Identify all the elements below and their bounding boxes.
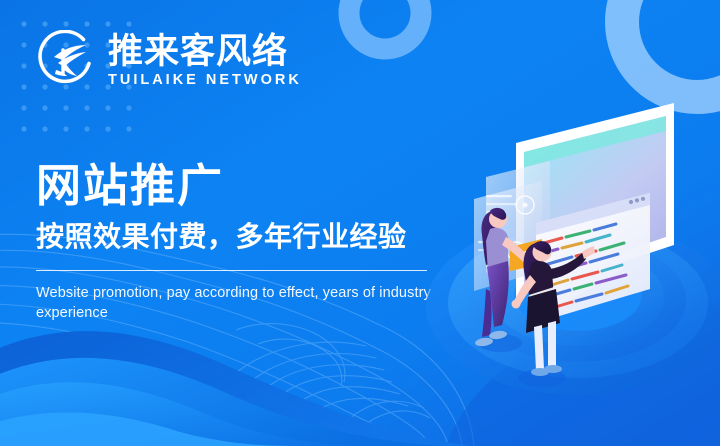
figure-left-top [486,228,508,273]
code-window-dots [629,197,645,204]
isometric-scene-svg [430,95,720,395]
promo-banner: 推来客风络 TUILAIKE NETWORK 网站推广 按照效果付费，多年行业经… [0,0,720,446]
floating-cards [474,161,550,291]
isometric-monitor [516,103,674,305]
tagline-english: Website promotion, pay according to effe… [36,283,436,323]
code-window [536,193,650,323]
figure-left-hair [481,211,499,265]
brand-logo[interactable]: 推来客风络 TUILAIKE NETWORK [36,30,302,92]
logo-chinese-name: 推来客风络 [108,33,302,71]
ring-decoration-small [349,0,421,49]
figure-right-hair [524,243,547,299]
figure-right-skirt [526,289,560,333]
code-window-body [536,193,650,323]
floating-card-icon-top [486,195,534,214]
figure-right-legs [534,325,544,371]
platform-rings [426,219,720,395]
ring-decoration-large [622,0,720,97]
figure-left-person [475,208,535,352]
code-window-titlebar [536,193,650,235]
bottom-wave-shapes [0,331,470,446]
floating-card-back [486,161,550,273]
bottom-right-deep-field [446,305,720,446]
logo-wordmark: 推来客风络 TUILAIKE NETWORK [108,33,302,89]
monitor-screen-highlight [524,116,666,167]
monitor-frame [516,103,674,297]
page-subtitle: 按照效果付费，多年行业经验 [36,220,456,254]
page-title: 网站推广 [36,160,456,212]
figure-left-pants [487,261,509,327]
hero-illustration [430,95,720,395]
floating-card-mid [474,181,542,291]
logo-english-name: TUILAIKE NETWORK [108,72,302,89]
monitor-stand [542,258,626,305]
code-lines [544,224,628,308]
figure-right-person [512,241,596,387]
monitor-screen [524,116,666,285]
chat-bubble-icon [510,239,542,275]
tuilaike-k-circle-logo-icon [36,30,98,92]
headline-divider [36,270,427,271]
floating-card-icon-bottom [478,241,525,260]
headline-block: 网站推广 按照效果付费，多年行业经验 Website promotion, pa… [36,160,456,323]
figure-right-top [528,261,554,307]
